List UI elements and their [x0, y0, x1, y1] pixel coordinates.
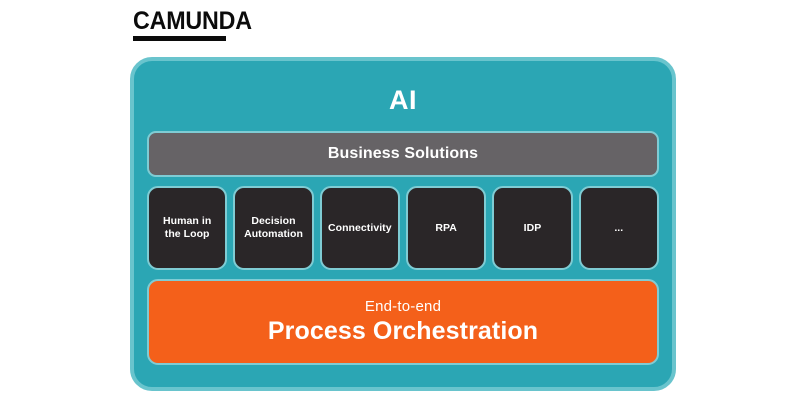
business-solutions-layer: Business Solutions: [147, 131, 659, 177]
capability-card-decision-automation: Decision Automation: [233, 186, 313, 270]
architecture-stack-diagram: AI Business Solutions Human in the Loop …: [130, 57, 676, 391]
capability-label: Human in the Loop: [154, 215, 220, 241]
capability-card-idp: IDP: [492, 186, 572, 270]
capability-card-connectivity: Connectivity: [320, 186, 400, 270]
process-orchestration-eyebrow: End-to-end: [365, 298, 441, 315]
capability-label: IDP: [524, 222, 542, 235]
process-orchestration-layer: End-to-end Process Orchestration: [147, 279, 659, 365]
capability-label: ...: [614, 222, 623, 235]
capability-card-human-in-the-loop: Human in the Loop: [147, 186, 227, 270]
capability-row: Human in the Loop Decision Automation Co…: [147, 186, 659, 270]
capability-label: Decision Automation: [240, 215, 306, 241]
camunda-wordmark: CAMUNDA: [133, 8, 224, 34]
capability-label: Connectivity: [328, 222, 392, 235]
ai-layer-title: AI: [147, 69, 659, 131]
capability-label: RPA: [435, 222, 457, 235]
capability-card-more: ...: [579, 186, 659, 270]
camunda-logo-underline: [133, 36, 226, 41]
capability-card-rpa: RPA: [406, 186, 486, 270]
process-orchestration-title: Process Orchestration: [268, 317, 538, 346]
business-solutions-label: Business Solutions: [328, 145, 478, 163]
camunda-logo: CAMUNDA: [133, 8, 231, 41]
